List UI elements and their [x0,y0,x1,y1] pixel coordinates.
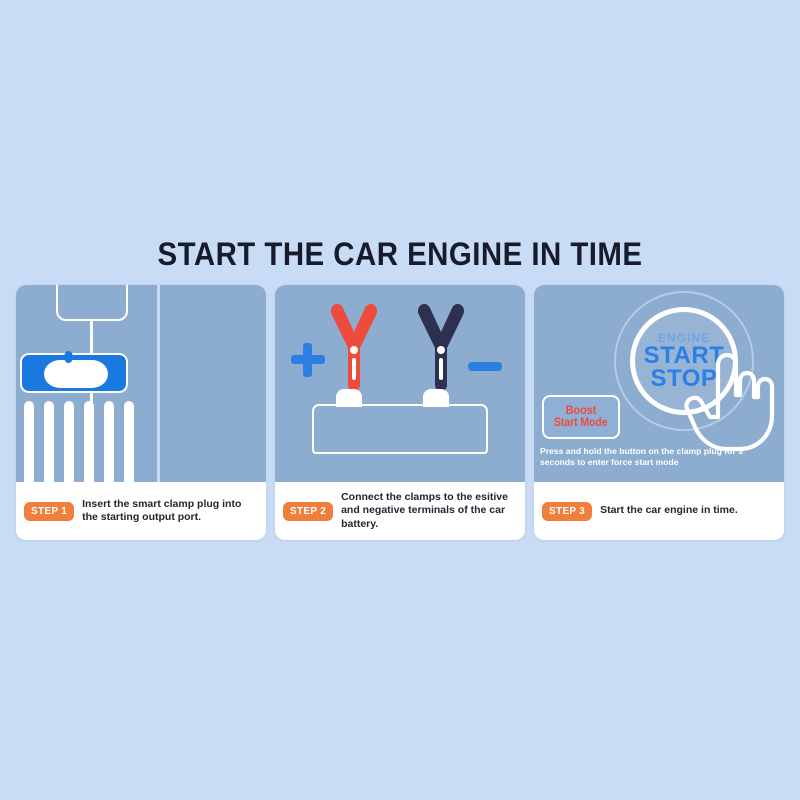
boost-badge-line1: Boost [566,404,597,417]
step-2-badge: STEP 2 [283,502,333,521]
step-panel-1: STEP 1 Insert the smart clamp plug into … [16,285,266,540]
infographic-root: START THE CAR ENGINE IN TIME [0,0,800,800]
panel-divider [157,285,160,482]
device-fin [24,401,34,482]
positive-clamp-icon [328,301,380,397]
plus-symbol-icon [291,343,325,377]
step-2-text: Connect the clamps to the esitive and ne… [341,491,517,531]
step-panel-2: STEP 2 Connect the clamps to the esitive… [275,285,525,540]
step-3-badge: STEP 3 [542,502,592,521]
step-1-text: Insert the smart clamp plug into the sta… [82,498,258,525]
device-fins-icon [24,401,134,482]
port-hole-icon [44,360,108,388]
device-fin [104,401,114,482]
step-2-illustration [275,285,525,482]
step-3-illustration: ENGINE START STOP Boost Start Mode Press… [534,285,784,482]
step-2-caption: STEP 2 Connect the clamps to the esitive… [275,482,525,540]
step-panel-3: ENGINE START STOP Boost Start Mode Press… [534,285,784,540]
step-1-illustration [16,285,266,482]
power-bank-device-icon [56,285,128,321]
starting-output-port-icon [20,353,128,393]
pointing-hand-icon [682,351,778,455]
boost-badge-line2: Start Mode [554,417,607,430]
minus-symbol-icon [468,362,502,371]
page-title: START THE CAR ENGINE IN TIME [32,236,768,273]
force-start-note: Press and hold the button on the clamp p… [540,446,778,469]
step-1-caption: STEP 1 Insert the smart clamp plug into … [16,482,266,540]
device-fin [124,401,134,482]
port-notch-icon [64,351,73,363]
step-1-badge: STEP 1 [24,502,74,521]
boost-start-mode-badge: Boost Start Mode [542,395,620,439]
step-3-caption: STEP 3 Start the car engine in time. [534,482,784,540]
negative-clamp-icon [415,301,467,397]
device-fin [84,401,94,482]
device-fin [44,401,54,482]
car-battery-icon [312,404,488,454]
steps-panel-row: STEP 1 Insert the smart clamp plug into … [16,285,784,540]
device-fin [64,401,74,482]
step-3-text: Start the car engine in time. [600,504,738,517]
